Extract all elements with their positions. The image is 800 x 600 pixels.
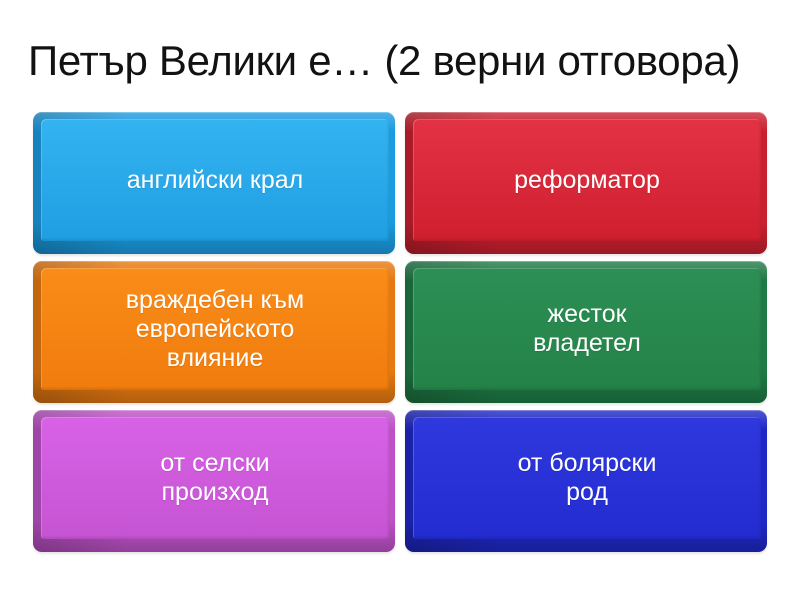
- answer-tile-4[interactable]: жесток владетел: [405, 261, 767, 403]
- answer-tile-2[interactable]: реформатор: [405, 112, 767, 254]
- page-title: Петър Велики е… (2 верни отговора): [28, 30, 776, 92]
- answer-tile-6-label: от болярски род: [518, 449, 657, 507]
- answer-tile-3[interactable]: враждебен към европейското влияние: [33, 261, 395, 403]
- answer-tile-2-face: реформатор: [413, 119, 761, 241]
- answer-tile-5-face: от селски произход: [41, 417, 389, 539]
- answer-tile-1-face: английски крал: [41, 119, 389, 241]
- answer-tile-6[interactable]: от болярски род: [405, 410, 767, 552]
- answer-tile-4-label: жесток владетел: [533, 300, 641, 358]
- answer-options-grid: английски крал реформатор враждебен към …: [33, 112, 767, 552]
- answer-tile-5-label: от селски произход: [160, 449, 269, 507]
- answer-tile-3-label: враждебен към европейското влияние: [126, 286, 304, 373]
- answer-tile-1-label: английски крал: [127, 166, 303, 195]
- answer-tile-6-face: от болярски род: [413, 417, 761, 539]
- answer-tile-3-face: враждебен към европейското влияние: [41, 268, 389, 390]
- answer-tile-4-face: жесток владетел: [413, 268, 761, 390]
- answer-tile-5[interactable]: от селски произход: [33, 410, 395, 552]
- quiz-screen: Петър Велики е… (2 верни отговора) англи…: [0, 0, 800, 600]
- answer-tile-1[interactable]: английски крал: [33, 112, 395, 254]
- answer-tile-2-label: реформатор: [514, 166, 660, 195]
